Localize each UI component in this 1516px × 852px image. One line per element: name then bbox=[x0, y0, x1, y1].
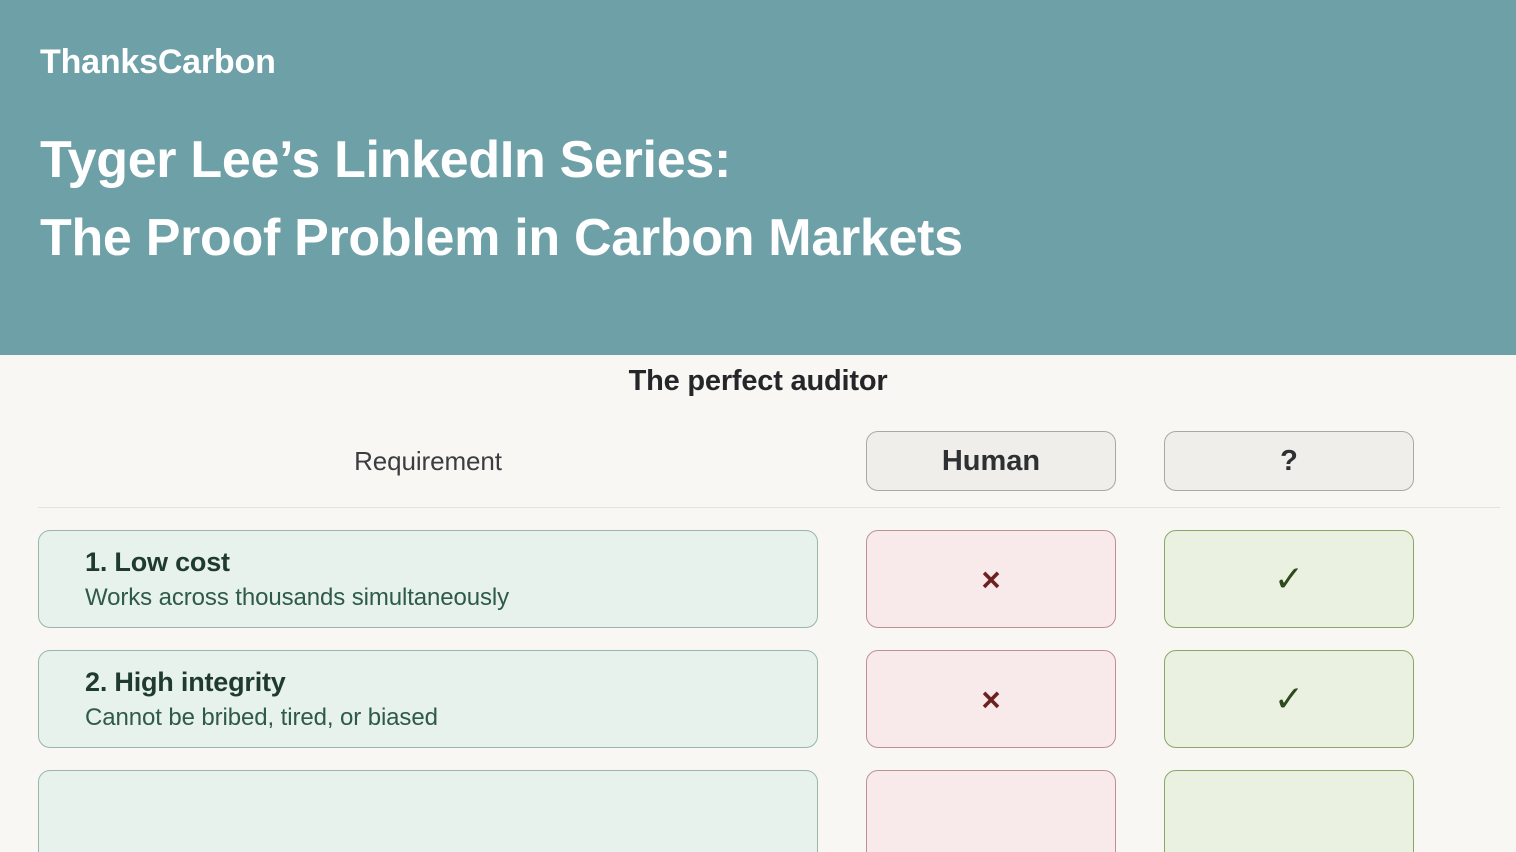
column-header-requirement-label: Requirement bbox=[38, 446, 818, 477]
header-divider bbox=[38, 507, 1500, 508]
deck-title: Tyger Lee’s LinkedIn Series: The Proof P… bbox=[40, 121, 1476, 277]
comparison-table: Requirement Human ? 1. Low cost Works ac… bbox=[38, 415, 1500, 852]
column-header-unknown: ? bbox=[1164, 431, 1414, 491]
requirement-subtitle: Works across thousands simultaneously bbox=[85, 582, 817, 613]
cross-icon: × bbox=[981, 683, 1000, 716]
check-icon: ✓ bbox=[1274, 561, 1304, 597]
slide-title: The perfect auditor bbox=[0, 365, 1516, 398]
verdict-cell-unknown[interactable]: ✓ bbox=[1164, 530, 1414, 628]
deck-title-line-2: The Proof Problem in Carbon Markets bbox=[40, 199, 1476, 277]
brand-logo-text: ThanksCarbon bbox=[40, 45, 1476, 79]
table-row: 1. Low cost Works across thousands simul… bbox=[38, 530, 1500, 628]
table-row: 2. High integrity Cannot be bribed, tire… bbox=[38, 650, 1500, 748]
table-header-row: Requirement Human ? bbox=[38, 415, 1500, 507]
table-row bbox=[38, 770, 1500, 852]
column-header-unknown-pill[interactable]: ? bbox=[1164, 431, 1414, 491]
requirement-card[interactable]: 1. Low cost Works across thousands simul… bbox=[38, 530, 818, 628]
verdict-cell-unknown[interactable] bbox=[1164, 770, 1414, 852]
column-header-human-pill[interactable]: Human bbox=[866, 431, 1116, 491]
requirement-card[interactable]: 2. High integrity Cannot be bribed, tire… bbox=[38, 650, 818, 748]
verdict-cell-human[interactable]: × bbox=[866, 530, 1116, 628]
deck-title-line-1: Tyger Lee’s LinkedIn Series: bbox=[40, 121, 1476, 199]
verdict-cell-unknown[interactable]: ✓ bbox=[1164, 650, 1414, 748]
column-header-requirement: Requirement bbox=[38, 446, 818, 477]
requirement-card[interactable] bbox=[38, 770, 818, 852]
check-icon: ✓ bbox=[1274, 681, 1304, 717]
slide-body: The perfect auditor Requirement Human ? … bbox=[0, 355, 1516, 852]
requirement-title: 1. Low cost bbox=[85, 547, 817, 579]
column-header-human: Human bbox=[866, 431, 1116, 491]
requirement-title: 2. High integrity bbox=[85, 667, 817, 699]
title-banner: ThanksCarbon Tyger Lee’s LinkedIn Series… bbox=[0, 0, 1516, 355]
verdict-cell-human[interactable]: × bbox=[866, 650, 1116, 748]
verdict-cell-human[interactable] bbox=[866, 770, 1116, 852]
cross-icon: × bbox=[981, 563, 1000, 596]
requirement-subtitle: Cannot be bribed, tired, or biased bbox=[85, 702, 817, 733]
